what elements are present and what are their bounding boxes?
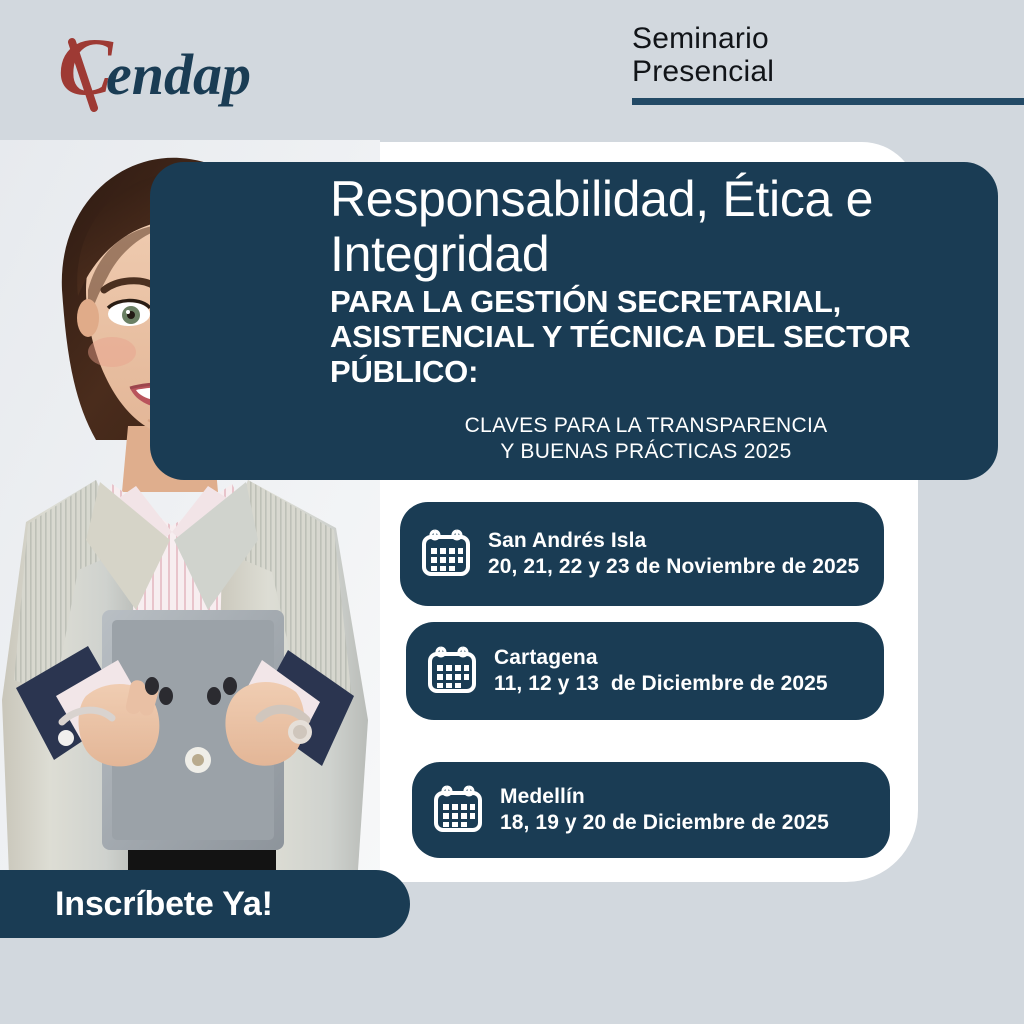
header-line-2: Presencial <box>632 55 1024 88</box>
date-card-text: Cartagena 11, 12 y 13 de Diciembre de 20… <box>494 645 828 697</box>
calendar-icon <box>418 524 474 585</box>
date-card-city: San Andrés Isla <box>488 528 859 554</box>
tagline-line-2: Y BUENAS PRÁCTICAS 2025 <box>330 439 962 465</box>
seminar-subtitle: PARA LA GESTIÓN SECRETARIAL, ASISTENCIAL… <box>330 284 1002 389</box>
header-text-block: Seminario Presencial <box>632 22 1024 88</box>
register-cta-button[interactable]: Inscríbete Ya! <box>0 870 410 938</box>
title-block: Responsabilidad, Ética e Integridad PARA… <box>330 172 1002 465</box>
footer-social-bar: Nuestras redes sociales +(57) 311 635 08… <box>0 940 1024 1000</box>
header-line-1: Seminario <box>632 22 1024 55</box>
date-card-city: Cartagena <box>494 645 828 671</box>
calendar-icon <box>430 780 486 841</box>
flyer-canvas: C endap Seminario Presencial <box>0 0 1024 1024</box>
date-card[interactable]: Cartagena 11, 12 y 13 de Diciembre de 20… <box>406 622 884 720</box>
seminar-tagline: CLAVES PARA LA TRANSPARENCIA Y BUENAS PR… <box>330 413 1002 465</box>
date-card[interactable]: San Andrés Isla 20, 21, 22 y 23 de Novie… <box>400 502 884 606</box>
date-card-text: San Andrés Isla 20, 21, 22 y 23 de Novie… <box>488 528 859 580</box>
date-card[interactable]: Medellín 18, 19 y 20 de Diciembre de 202… <box>412 762 890 858</box>
date-card-when: 18, 19 y 20 de Diciembre de 2025 <box>500 810 829 836</box>
register-cta-label: Inscríbete Ya! <box>55 885 273 924</box>
cendap-logo[interactable]: C endap <box>48 26 348 112</box>
calendar-icon <box>424 641 480 702</box>
tagline-line-1: CLAVES PARA LA TRANSPARENCIA <box>330 413 962 439</box>
logo-wordmark: endap <box>106 42 251 107</box>
nail-left <box>145 677 159 695</box>
eye-left <box>108 301 150 327</box>
bracelet-charm <box>58 730 74 746</box>
date-card-text: Medellín 18, 19 y 20 de Diciembre de 202… <box>500 784 829 836</box>
date-card-when: 11, 12 y 13 de Diciembre de 2025 <box>494 671 828 697</box>
date-card-city: Medellín <box>500 784 829 810</box>
header-divider-rule <box>632 98 1024 105</box>
nail-right <box>223 677 237 695</box>
date-card-when: 20, 21, 22 y 23 de Noviembre de 2025 <box>488 554 859 580</box>
seminar-title: Responsabilidad, Ética e Integridad <box>330 172 1002 282</box>
ear-left <box>77 299 99 337</box>
